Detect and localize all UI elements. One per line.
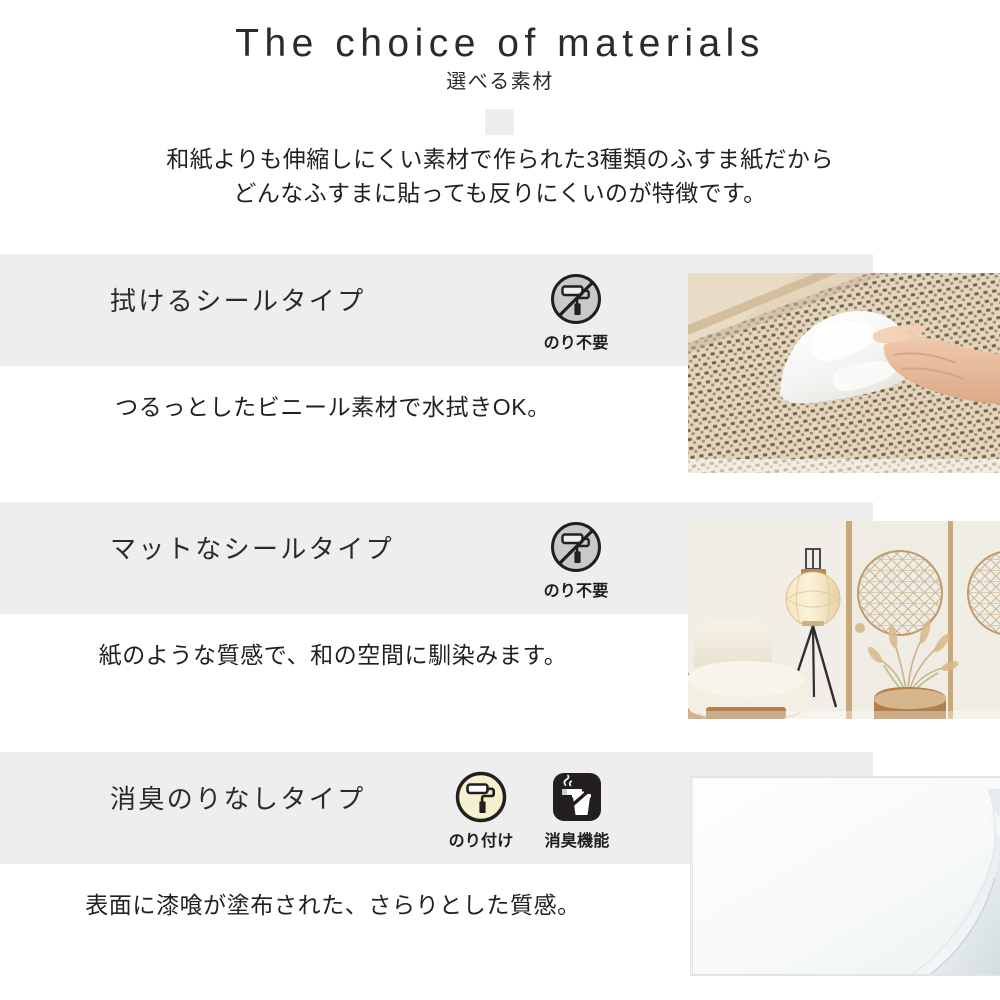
badge-label: のり付け [449, 827, 514, 851]
material-section-deodorizing: 消臭のりなしタイプ のり付け [0, 748, 1000, 998]
section-photo-wipe-cloth [688, 273, 1000, 473]
lead-line-1: 和紙よりも伸縮しにくい素材で作られた3種類のふすま紙だから [0, 142, 1000, 176]
badge-no-glue: のり不要 [536, 520, 616, 601]
section-description: つるっとしたビニール素材で水拭きOK。 [0, 396, 666, 419]
section-photo-curled-paper [690, 776, 1000, 976]
section-heading: マットなシールタイプ [110, 536, 394, 562]
badge-label: のり不要 [544, 577, 609, 601]
badge-group: のり付け 消臭機能 [441, 770, 617, 851]
section-heading: 拭けるシールタイプ [110, 288, 366, 314]
material-choice-page: The choice of materials 選べる素材 和紙よりも伸縮しにく… [0, 0, 1000, 1000]
material-section-wipeable: 拭けるシールタイプ のり不要 つるっとしたビニール素材で水拭きOK。 [0, 250, 1000, 500]
material-section-matte: マットなシールタイプ のり不要 紙のような質感で、和の空間に馴染みます。 [0, 498, 1000, 748]
divider-square [485, 109, 514, 135]
section-heading: 消臭のりなしタイプ [110, 786, 366, 812]
badge-deodorize: 消臭機能 [537, 770, 617, 851]
badge-glue-required: のり付け [441, 770, 521, 851]
section-photo-japanese-interior [688, 521, 1000, 719]
no-glue-roller-icon [549, 272, 603, 326]
no-glue-roller-icon [549, 520, 603, 574]
page-title: The choice of materials [0, 24, 1000, 63]
lead-line-2: どんなふすまに貼っても反りにくいのが特徴です。 [0, 176, 1000, 210]
badge-group: のり不要 [536, 520, 616, 601]
section-description: 表面に漆喰が塗布された、さらりとした質感。 [0, 894, 666, 917]
section-description: 紙のような質感で、和の空間に馴染みます。 [0, 644, 666, 667]
badge-group: のり不要 [536, 272, 616, 353]
badge-no-glue: のり不要 [536, 272, 616, 353]
page-header: The choice of materials 選べる素材 和紙よりも伸縮しにく… [0, 0, 1000, 250]
deodorize-icon [550, 770, 604, 824]
badge-label: 消臭機能 [545, 827, 610, 851]
lead-paragraph: 和紙よりも伸縮しにくい素材で作られた3種類のふすま紙だから どんなふすまに貼って… [0, 142, 1000, 210]
badge-label: のり不要 [544, 329, 609, 353]
page-subtitle: 選べる素材 [0, 72, 1000, 92]
glue-roller-icon [454, 770, 508, 824]
